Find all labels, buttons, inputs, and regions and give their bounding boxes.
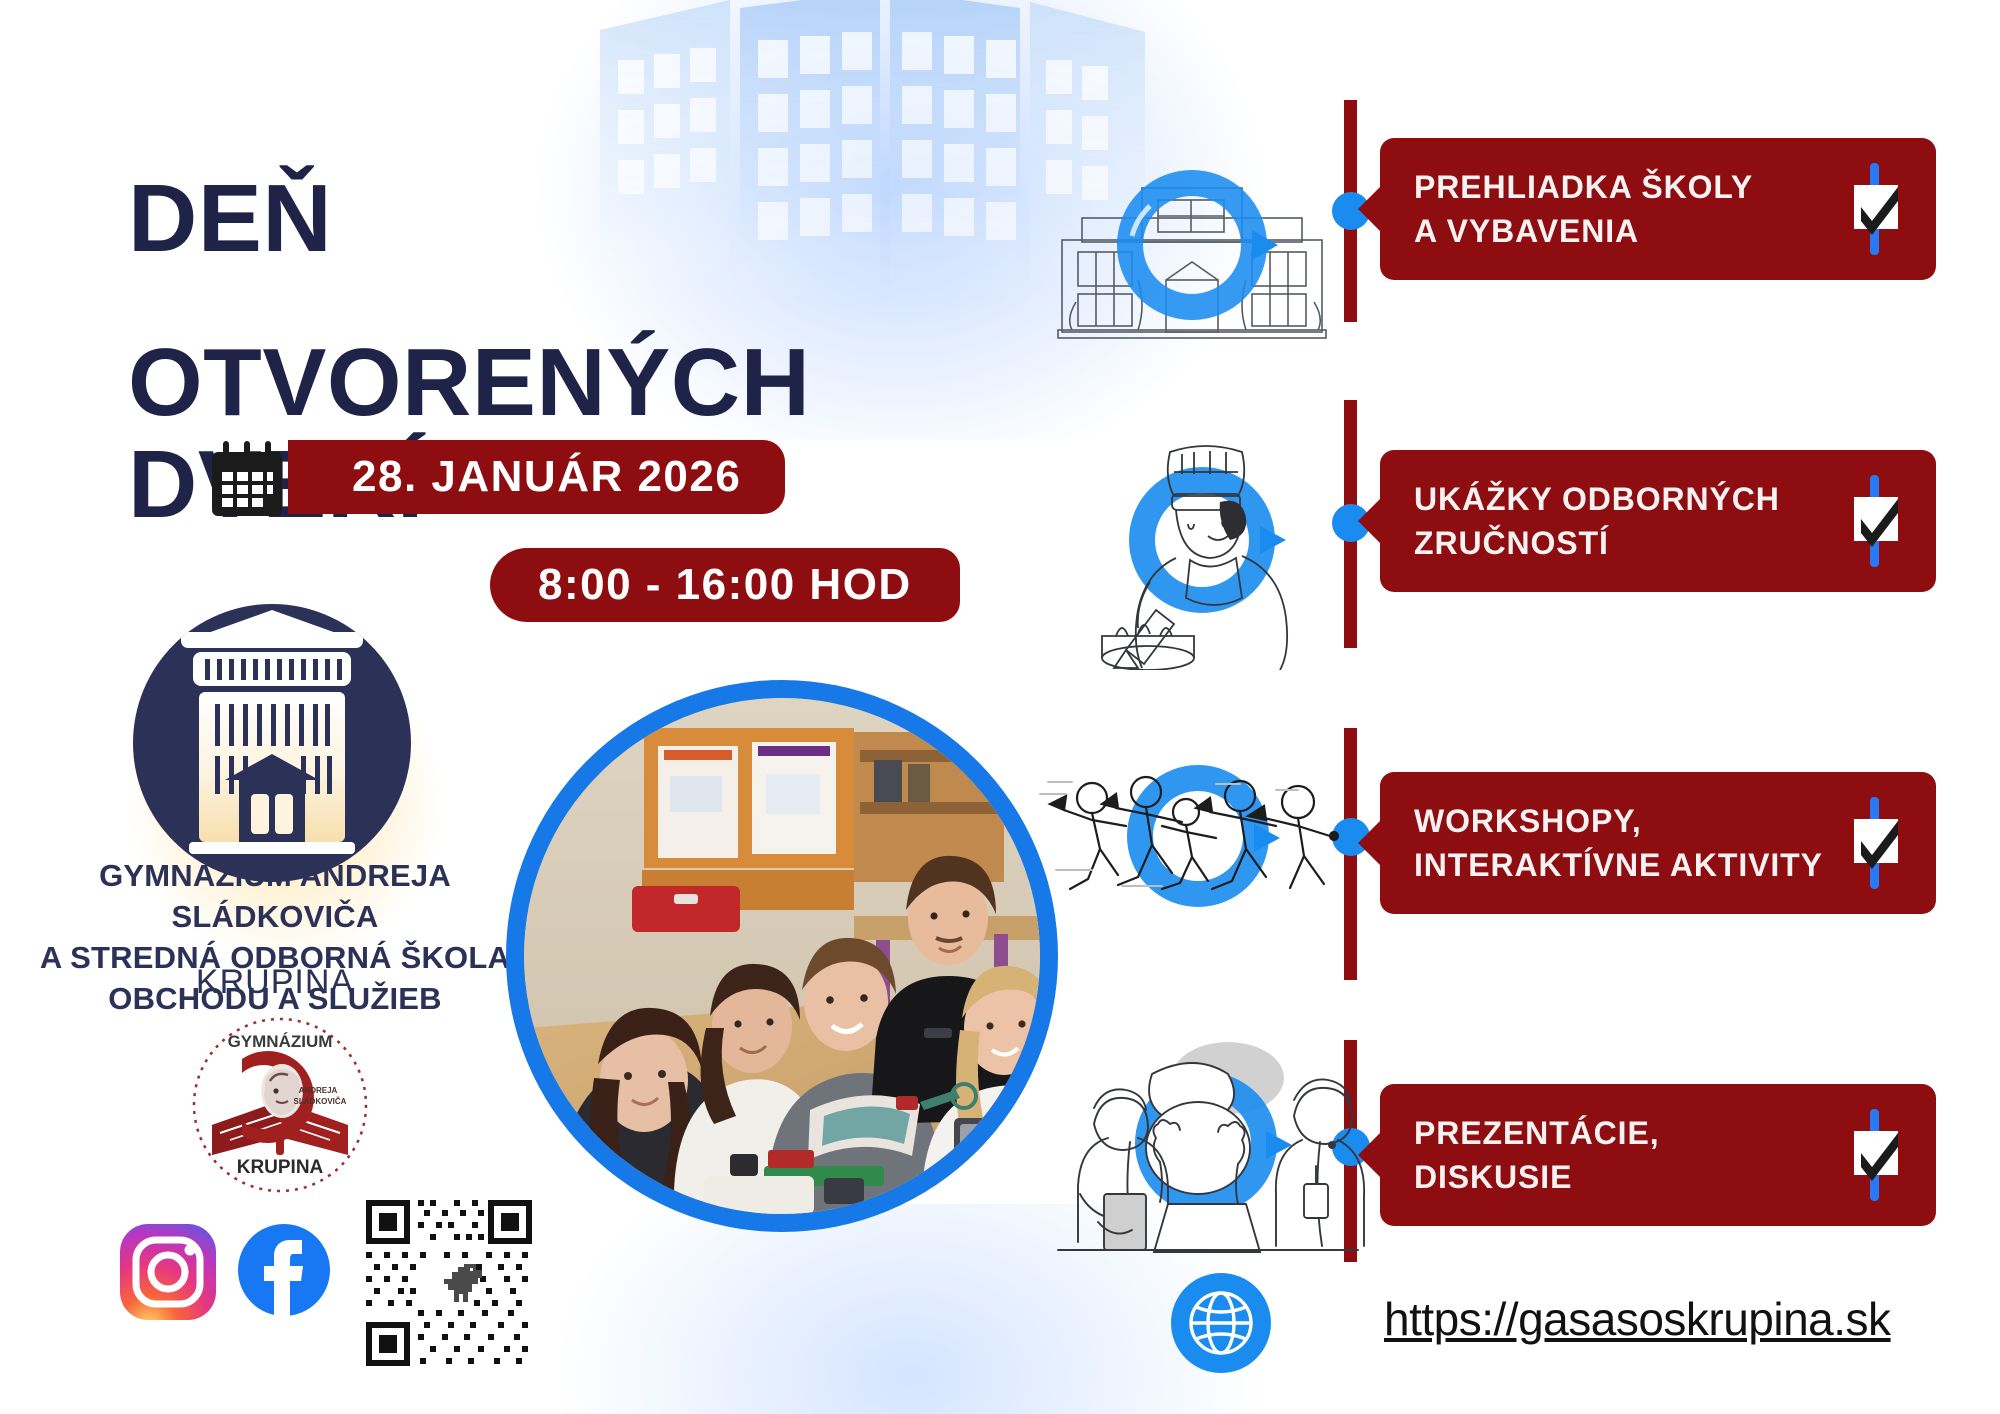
seal-bottom-text: KRUPINA [237, 1157, 324, 1178]
activity-1-label-line-2: A VYBAVENIA [1414, 209, 1753, 253]
seal-mid-text-1: ANDREJA [299, 1086, 338, 1095]
globe-icon [1170, 1272, 1272, 1374]
time-text: 8:00 - 16:00 HOD [538, 560, 912, 610]
poster-root: DEŇ OTVORENÝCH DVERÍ 28. JANUÁR 2026 8:0… [0, 0, 2000, 1414]
seal-mid-text-2: SLÁDKOVIČA [294, 1097, 347, 1106]
activity-4-label-line-2: DISKUSIE [1414, 1155, 1660, 1199]
activity-1-label-line-1: PREHLIADKA ŠKOLY [1414, 165, 1753, 209]
checkbox-checked-icon [1848, 1107, 1902, 1203]
headline-line-1: DEŇ [128, 168, 1128, 270]
activity-2-label-line-1: UKÁŽKY ODBORNÝCH [1414, 477, 1780, 521]
activity-badge-1[interactable]: PREHLIADKA ŠKOLY A VYBAVENIA [1380, 138, 1936, 280]
instagram-icon[interactable] [118, 1222, 218, 1322]
activity-3-label-line-2: INTERAKTÍVNE AKTIVITY [1414, 843, 1823, 887]
date-text: 28. JANUÁR 2026 [352, 452, 741, 502]
running-people-icon [1026, 748, 1326, 978]
students-in-classroom-photo [524, 698, 1040, 1214]
seal-top-text: GYMNÁZIUM [228, 1032, 333, 1051]
school-building-icon [1042, 130, 1342, 360]
activity-4-label-line-1: PREZENTÁCIE, [1414, 1111, 1660, 1155]
activity-3-label-line-1: WORKSHOPY, [1414, 799, 1823, 843]
qr-code[interactable] [358, 1192, 540, 1374]
checkbox-checked-icon [1848, 795, 1902, 891]
activity-badge-4[interactable]: PREZENTÁCIE, DISKUSIE [1380, 1084, 1936, 1226]
checkbox-checked-icon [1848, 161, 1902, 257]
checkbox-checked-icon [1848, 473, 1902, 569]
school-city: KRUPINA [10, 963, 540, 1002]
facebook-icon[interactable] [236, 1222, 332, 1318]
calendar-icon [208, 440, 286, 520]
activity-2-label-line-2: ZRUČNOSTÍ [1414, 521, 1780, 565]
badge-arrow-4 [1358, 1131, 1382, 1179]
school-building-crest-icon [133, 604, 411, 882]
students-photo-ring [506, 680, 1058, 1232]
time-pill: 8:00 - 16:00 HOD [490, 548, 960, 622]
badge-arrow-3 [1358, 819, 1382, 867]
activity-badge-2[interactable]: UKÁŽKY ODBORNÝCH ZRUČNOSTÍ [1380, 450, 1936, 592]
activity-badge-3[interactable]: WORKSHOPY, INTERAKTÍVNE AKTIVITY [1380, 772, 1936, 914]
pastry-chef-icon [1060, 440, 1360, 670]
badge-arrow-2 [1358, 497, 1382, 545]
date-pill: 28. JANUÁR 2026 [288, 440, 785, 514]
discussion-people-icon [1038, 1038, 1338, 1268]
website-link[interactable]: https://gasasoskrupina.sk [1384, 1292, 1891, 1346]
badge-arrow-1 [1358, 185, 1382, 233]
school-name-line-1: GYMNÁZIUM ANDREJA SLÁDKOVIČA [10, 856, 540, 938]
school-seal-icon: GYMNÁZIUM ANDREJA SLÁDKOVIČA KRUPINA [190, 1015, 370, 1195]
